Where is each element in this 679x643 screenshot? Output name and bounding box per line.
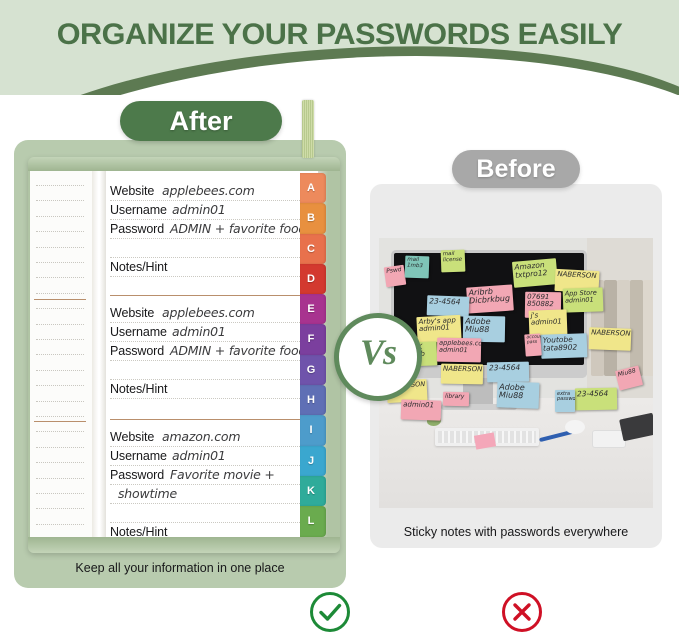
sticky-note-text: admin01: [565, 296, 601, 304]
left-page-rule: [36, 277, 84, 278]
left-page-rule: [36, 354, 84, 355]
password-value: ADMIN + favorite food: [170, 221, 306, 236]
sticky-note-text: Pswd: [386, 267, 403, 275]
username-value: admin01: [172, 448, 226, 463]
password-entry: Websiteapplebees.comUsernameadmin01Passw…: [106, 183, 318, 278]
alphabet-tab-label: J: [300, 446, 322, 476]
password-label: Password: [110, 344, 164, 358]
sticky-note: applebees.comadmin01: [437, 338, 481, 363]
alphabet-tab-label: B: [300, 203, 322, 233]
website-row: Websiteapplebees.com: [106, 183, 318, 202]
sticky-note-text: Dicbrkbug: [469, 295, 511, 306]
website-label: Website: [110, 306, 154, 320]
shelf-binder: [630, 280, 643, 376]
sticky-note: extrapasswd: [555, 390, 575, 412]
username-label: Username: [110, 325, 167, 339]
sticky-note: Amazontxtpro12: [512, 258, 558, 288]
alphabet-tab-label: L: [300, 506, 322, 536]
alphabet-tab-l[interactable]: L: [300, 506, 326, 536]
alphabet-tab-i[interactable]: I: [300, 415, 326, 445]
after-caption: Keep all your information in one place: [14, 561, 346, 575]
entry-rule: [110, 200, 316, 201]
messy-desk-photo: Amazontxtpro12NABERSONAribrbDicbrkbug23-…: [379, 238, 653, 508]
sticky-note: admin01: [401, 399, 442, 420]
left-page-rule: [36, 462, 84, 463]
username-label: Username: [110, 203, 167, 217]
left-page-rule: [36, 416, 84, 417]
left-page-rule: [36, 247, 84, 248]
username-row: Usernameadmin01: [106, 324, 318, 343]
left-page-separator: [34, 421, 86, 422]
notebook-right-page: Websiteapplebees.comUsernameadmin01Passw…: [106, 171, 318, 537]
alphabet-tab-f[interactable]: F: [300, 324, 326, 354]
sticky-note: Pswd: [384, 265, 407, 288]
password-label: Password: [110, 468, 164, 482]
entry-rule: [110, 360, 316, 361]
entry-rule: [110, 398, 316, 399]
password-line2-row: showtime: [106, 486, 318, 505]
notebook-gutter: [92, 171, 106, 537]
left-page-rule: [36, 493, 84, 494]
sticky-note-text: NABERSON: [443, 366, 481, 374]
alphabet-tab-j[interactable]: J: [300, 446, 326, 476]
notebook-elastic-band: [302, 100, 314, 158]
username-value: admin01: [172, 202, 226, 217]
sticky-note-text: Miu88: [465, 326, 503, 335]
left-page-rule: [36, 216, 84, 217]
sticky-note: accountpass: [524, 333, 541, 356]
entry-rule: [110, 503, 316, 504]
sticky-note-text: passwd: [557, 397, 573, 402]
before-caption: Sticky notes with passwords everywhere: [370, 525, 662, 539]
alphabet-tab-label: E: [300, 294, 322, 324]
website-value: applebees.com: [162, 183, 255, 198]
alphabet-tab-label: F: [300, 324, 322, 354]
password-notebook: Websiteapplebees.comUsernameadmin01Passw…: [28, 157, 340, 553]
website-label: Website: [110, 184, 154, 198]
sticky-note-text: 23-4564: [577, 390, 615, 399]
website-row: Websiteapplebees.com: [106, 305, 318, 324]
alphabet-tab-b[interactable]: B: [300, 203, 326, 233]
after-badge: After: [120, 101, 282, 141]
password-line2-value: showtime: [118, 486, 177, 501]
sticky-note-text: admin01: [419, 324, 459, 333]
alphabet-tab-k[interactable]: K: [300, 476, 326, 506]
sticky-note-text: 23-4564: [429, 297, 467, 306]
alphabet-tab-label: A: [300, 173, 322, 203]
sticky-note-text: tata8902: [543, 343, 585, 352]
after-badge-label: After: [120, 101, 282, 141]
password-value: ADMIN + favorite food: [170, 343, 306, 358]
website-value: amazon.com: [162, 429, 240, 444]
entry-rule: [110, 379, 316, 380]
website-row: Websiteamazon.com: [106, 429, 318, 448]
entry-rule: [110, 522, 316, 523]
sticky-note: AribrbDicbrkbug: [466, 284, 514, 313]
sticky-note-text: txtpro12: [515, 268, 556, 279]
sticky-note: AdobeMiu88: [497, 381, 540, 408]
alphabet-tab-label: K: [300, 476, 322, 506]
sticky-note: 23-4564: [575, 388, 617, 411]
left-page-rule: [36, 508, 84, 509]
website-label: Website: [110, 430, 154, 444]
alphabet-tab-c[interactable]: C: [300, 234, 326, 264]
mouse: [565, 420, 585, 434]
password-row: PasswordADMIN + favorite food: [106, 343, 318, 362]
alphabet-tab-label: C: [300, 234, 322, 264]
entry-separator: [110, 295, 310, 296]
check-mark-icon: [313, 595, 347, 629]
sticky-note-text: admin01: [439, 346, 479, 354]
sticky-note: App Storeadmin01: [563, 287, 604, 312]
left-page-rule: [36, 401, 84, 402]
alphabet-tab-a[interactable]: A: [300, 173, 326, 203]
left-page-separator: [34, 299, 86, 300]
blank-row: [106, 362, 318, 381]
password-row: PasswordFavorite movie +: [106, 467, 318, 486]
username-label: Username: [110, 449, 167, 463]
left-page-rule: [36, 185, 84, 186]
versus-badge: Vs: [334, 313, 422, 401]
x-circle-icon: [502, 592, 542, 632]
left-page-rule: [36, 293, 84, 294]
before-badge: Before: [452, 150, 580, 188]
alphabet-tab-label: I: [300, 415, 322, 445]
sticky-note: Youtobetata8902: [541, 333, 588, 359]
shelf-binder: [643, 280, 653, 376]
left-page-rule: [36, 339, 84, 340]
sticky-note-text: admin01: [531, 319, 565, 328]
entry-rule: [110, 219, 316, 220]
left-page-rule: [36, 262, 84, 263]
entry-rule: [110, 446, 316, 447]
notes-label: Notes/Hint: [110, 382, 167, 396]
entry-rule: [110, 341, 316, 342]
username-row: Usernameadmin01: [106, 448, 318, 467]
sticky-note-text: Miu88: [617, 368, 638, 379]
alphabet-tab-g[interactable]: G: [300, 355, 326, 385]
notebook-pages: Websiteapplebees.comUsernameadmin01Passw…: [30, 171, 318, 537]
alphabet-tab-h[interactable]: H: [300, 385, 326, 415]
entry-rule: [110, 238, 316, 239]
sticky-note-text: library: [445, 394, 467, 401]
notebook-bottom-band: [28, 537, 340, 553]
sticky-note-text: pass: [527, 340, 539, 346]
password-entry: Websiteapplebees.comUsernameadmin01Passw…: [106, 305, 318, 400]
sticky-note: 23-4564: [487, 362, 529, 383]
entry-rule: [110, 484, 316, 485]
sticky-note: NABERSON: [441, 364, 483, 385]
notes-row: Notes/Hint: [106, 259, 318, 278]
username-row: Usernameadmin01: [106, 202, 318, 221]
website-value: applebees.com: [162, 305, 255, 320]
left-page-rule: [36, 431, 84, 432]
alphabet-tab-label: G: [300, 355, 322, 385]
check-circle-icon: [310, 592, 350, 632]
alphabet-tab-strip[interactable]: ABCDEFGHIJKL: [300, 173, 326, 537]
blank-row: [106, 505, 318, 524]
password-value: Favorite movie +: [170, 467, 275, 482]
blank-row: [106, 240, 318, 259]
password-entry: Websiteamazon.comUsernameadmin01Password…: [106, 429, 318, 543]
sticky-note-text: Miu88: [499, 392, 537, 402]
before-badge-label: Before: [452, 150, 580, 188]
page-title: ORGANIZE YOUR PASSWORDS EASILY: [0, 18, 679, 52]
left-page-rule: [36, 447, 84, 448]
sticky-note-text: 23-4564: [489, 364, 527, 373]
password-label: Password: [110, 222, 164, 236]
alphabet-tab-d[interactable]: D: [300, 264, 326, 294]
password-row: PasswordADMIN + favorite food: [106, 221, 318, 240]
alphabet-tab-label: D: [300, 264, 322, 294]
left-page-rule: [36, 200, 84, 201]
notebook-top-band: [28, 157, 340, 171]
left-page-rule: [36, 385, 84, 386]
left-page-rule: [36, 370, 84, 371]
entry-rule: [110, 276, 316, 277]
sticky-note-text: 850882: [527, 301, 559, 309]
sticky-note: j'sadmin01: [529, 309, 568, 336]
sticky-note-text: admin01: [403, 401, 439, 410]
left-page-rule: [36, 324, 84, 325]
sticky-note-text: 1mb3: [407, 263, 427, 269]
sticky-note-text: NABERSON: [557, 271, 597, 280]
entry-separator: [110, 419, 310, 420]
left-page-rule: [36, 478, 84, 479]
x-mark-icon: [505, 595, 539, 629]
sticky-note: NABERSON: [589, 327, 632, 350]
notes-label: Notes/Hint: [110, 260, 167, 274]
sticky-note: library: [443, 392, 469, 406]
alphabet-tab-e[interactable]: E: [300, 294, 326, 324]
notes-row: Notes/Hint: [106, 381, 318, 400]
entry-rule: [110, 257, 316, 258]
notebook-left-page: [30, 171, 92, 537]
versus-label: Vs: [339, 318, 417, 386]
alphabet-tab-label: H: [300, 385, 322, 415]
sticky-note: mail1mb3: [405, 256, 430, 279]
left-page-rule: [36, 308, 84, 309]
infographic-root: ORGANIZE YOUR PASSWORDS EASILY After Web…: [0, 0, 679, 643]
sticky-note: maillicense: [441, 250, 466, 273]
sticky-note-text: license: [443, 257, 463, 263]
left-page-rule: [36, 524, 84, 525]
left-page-rule: [36, 231, 84, 232]
sticky-note: 23-4564: [427, 295, 470, 316]
entry-rule: [110, 322, 316, 323]
username-value: admin01: [172, 324, 226, 339]
entry-rule: [110, 465, 316, 466]
sticky-note-text: NABERSON: [591, 329, 629, 338]
header-banner: ORGANIZE YOUR PASSWORDS EASILY: [0, 0, 679, 95]
